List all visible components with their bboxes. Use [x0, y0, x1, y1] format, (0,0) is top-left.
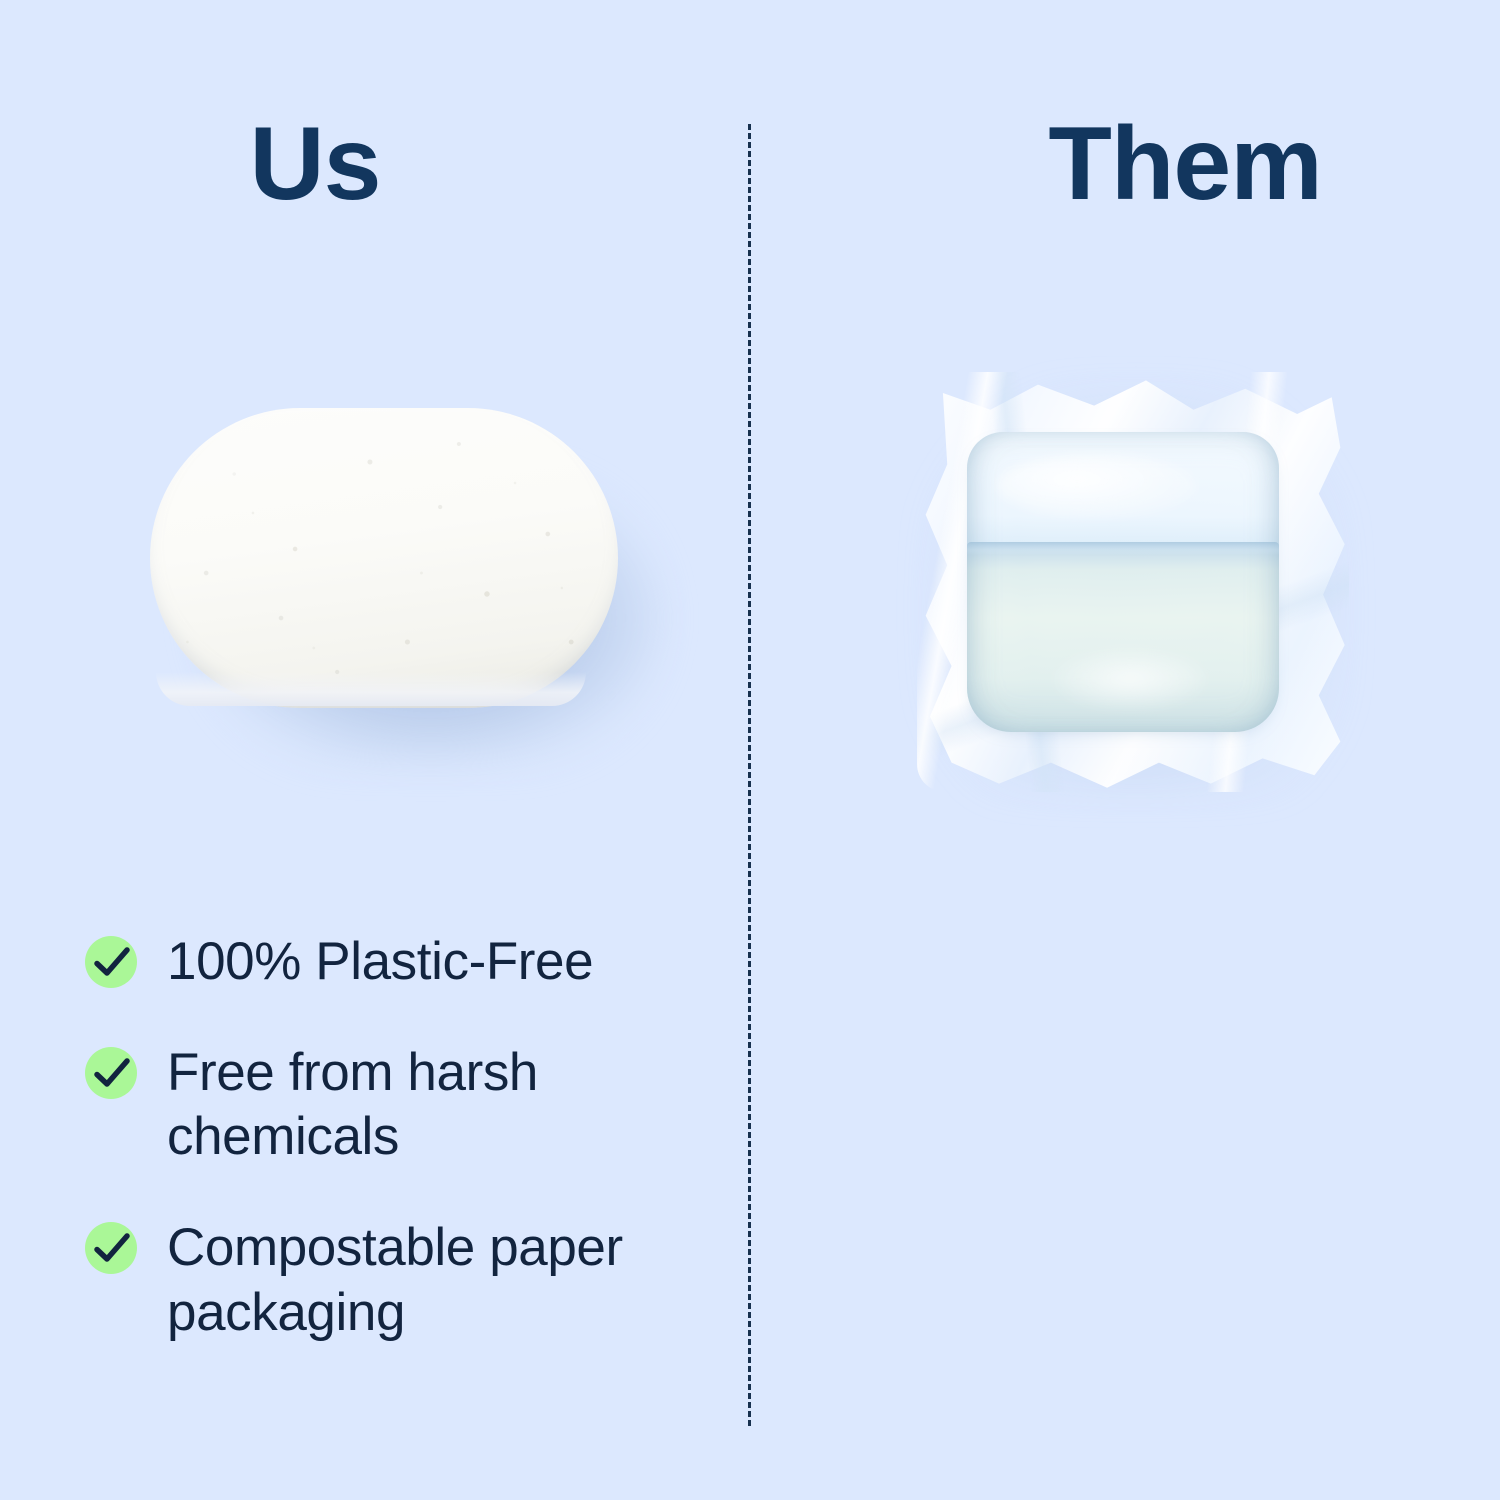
- list-item: Free from harsh chemicals: [85, 1041, 685, 1170]
- pod-graphic: [905, 350, 1365, 810]
- check-icon: [85, 1047, 137, 1099]
- product-image-tablet: [0, 330, 750, 850]
- list-item: Compostable paper packaging: [85, 1216, 685, 1345]
- tablet-speckle-texture: [150, 408, 618, 708]
- tablet-body: [150, 408, 618, 708]
- column-them: Them Made with plastic: [750, 0, 1500, 1500]
- pod-highlight-bottom: [1055, 650, 1205, 708]
- product-image-pod: [750, 330, 1500, 850]
- page-title-them: Them: [750, 110, 1500, 219]
- tablet-bottom-edge: [156, 672, 586, 706]
- comparison-infographic: Us 100% Plastic-Free: [0, 0, 1500, 1500]
- page-title-us: Us: [0, 110, 750, 219]
- pod-highlight-top: [997, 454, 1197, 518]
- tablet-graphic: [150, 408, 620, 728]
- pod-liquid-fill-line: [967, 542, 1279, 556]
- list-item-label: 100% Plastic-Free: [167, 930, 593, 995]
- list-item: 100% Plastic-Free: [85, 930, 685, 995]
- list-item-label: Compostable paper packaging: [167, 1216, 685, 1345]
- column-us: Us 100% Plastic-Free: [0, 0, 750, 1500]
- check-icon: [85, 936, 137, 988]
- list-item-label: Free from harsh chemicals: [167, 1041, 685, 1170]
- check-icon: [85, 1222, 137, 1274]
- benefits-list-us: 100% Plastic-Free Free from harsh chemic…: [85, 930, 685, 1345]
